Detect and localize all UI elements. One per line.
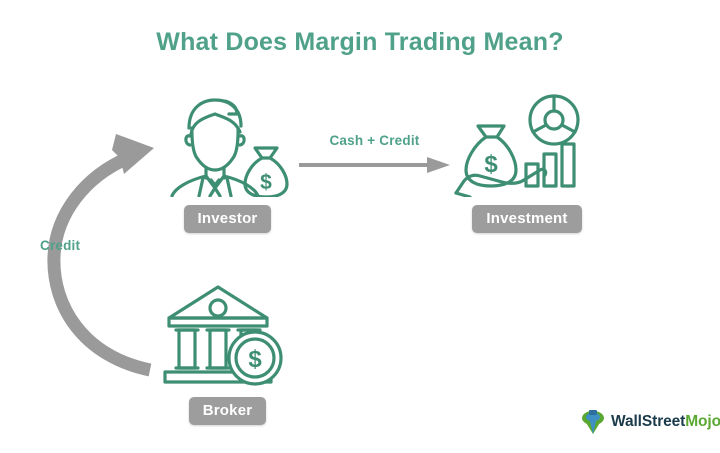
brand-name-part-2: Mojo — [685, 413, 720, 430]
money-bag-icon: $ — [466, 126, 516, 186]
flow-credit-label: Credit — [40, 238, 80, 253]
brand-name: WallStreetMojo — [611, 414, 720, 430]
flow-cash-credit: Cash + Credit — [297, 133, 452, 179]
hand-holding-money-bag-with-charts-icon: $ — [452, 92, 602, 197]
svg-text:$: $ — [484, 151, 498, 178]
brand-name-part-1: WallStreet — [611, 413, 685, 430]
hand-icon — [456, 169, 546, 197]
page-title: What Does Margin Trading Mean? — [0, 28, 720, 57]
node-investor[interactable]: $ Investor — [155, 92, 300, 233]
node-broker[interactable]: $ Broker — [155, 282, 300, 425]
svg-text:$: $ — [260, 171, 272, 194]
bank-building-with-dollar-coin-icon: $ — [155, 282, 300, 387]
flow-cash-credit-label: Cash + Credit — [297, 133, 452, 148]
svg-text:$: $ — [248, 346, 262, 373]
node-broker-label: Broker — [189, 397, 267, 425]
straight-arrow-right-icon — [297, 155, 452, 175]
node-investment-label-wrap: Investment — [452, 205, 602, 233]
bar-chart-icon — [526, 144, 574, 186]
infographic-canvas: What Does Margin Trading Mean? Credit — [0, 0, 720, 453]
node-investor-label-wrap: Investor — [155, 205, 300, 233]
node-investor-label: Investor — [184, 205, 272, 233]
businessman-with-money-bag-icon: $ — [155, 92, 300, 197]
wallstreetmojo-logo-icon — [581, 409, 605, 435]
node-broker-label-wrap: Broker — [155, 397, 300, 425]
node-investment[interactable]: $ Investment — [452, 92, 602, 233]
node-investment-label: Investment — [472, 205, 581, 233]
dollar-coin-icon: $ — [229, 332, 281, 384]
brand-logo[interactable]: WallStreetMojo — [581, 409, 720, 435]
pie-chart-icon — [530, 96, 578, 144]
